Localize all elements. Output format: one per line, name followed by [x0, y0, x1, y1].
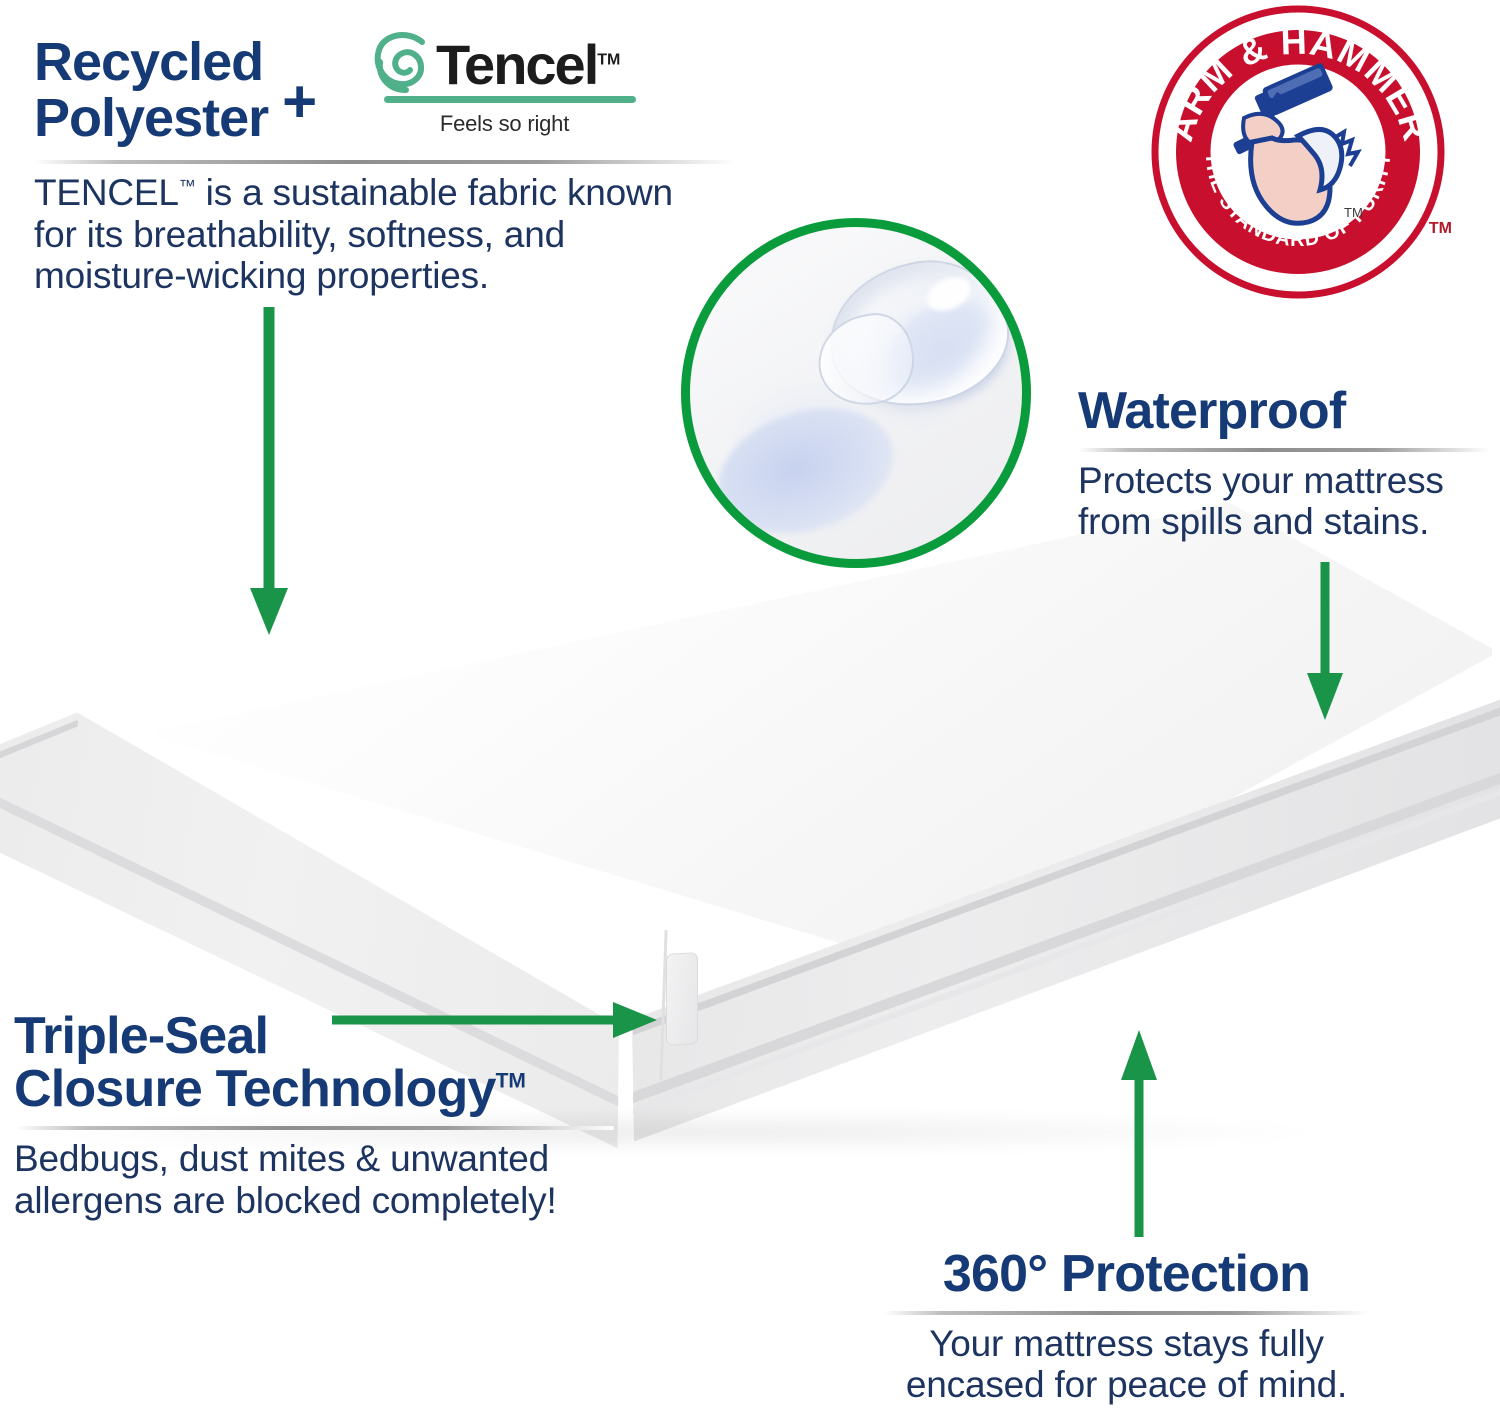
ah-tm-inner: TM — [1344, 205, 1363, 220]
protection-360-feature: 360° Protection Your mattress stays full… — [884, 1248, 1369, 1406]
divider — [34, 160, 734, 164]
divider — [1078, 448, 1490, 452]
tencel-tm: TM — [597, 51, 620, 68]
tencel-wordmark: TencelTM — [436, 37, 620, 93]
tencel-logo: TencelTM Feels so right — [372, 28, 637, 137]
triple-seal-feature: Triple-SealClosure TechnologyTM Bedbugs,… — [14, 1010, 614, 1221]
triple-seal-title: Triple-SealClosure TechnologyTM — [14, 1010, 614, 1116]
arrow-up-icon — [1110, 1025, 1180, 1240]
tencel-tagline: Feels so right — [372, 111, 637, 137]
divider — [884, 1311, 1369, 1315]
arm-and-hammer-logo: ARM & HAMMER THE STANDARD OF PURITY TM T… — [1148, 2, 1448, 302]
tencel-spiral-icon — [372, 28, 434, 102]
tencel-description: TENCEL™ is a sustainable fabric known fo… — [34, 172, 724, 296]
triple-seal-tm: TM — [496, 1070, 526, 1093]
arrow-down-icon — [1296, 560, 1366, 725]
zipper-icon — [666, 952, 698, 1046]
arrow-down-icon — [240, 305, 310, 640]
protection-360-description: Your mattress stays fully encased for pe… — [884, 1323, 1369, 1406]
arm-and-hammer-seal-icon: ARM & HAMMER THE STANDARD OF PURITY TM — [1148, 2, 1448, 302]
recycled-polyester-feature: Recycled Polyester + TencelTM Feels s — [34, 34, 734, 297]
waterproof-feature: Waterproof Protects your mattress from s… — [1078, 385, 1490, 543]
waterproof-title: Waterproof — [1078, 385, 1490, 438]
page-title: Recycled Polyester — [34, 34, 268, 146]
ah-tm-outer: TM — [1429, 220, 1452, 238]
triple-seal-description: Bedbugs, dust mites & unwanted allergens… — [14, 1138, 614, 1221]
waterproof-description: Protects your mattress from spills and s… — [1078, 460, 1490, 543]
protection-360-title: 360° Protection — [884, 1248, 1369, 1301]
plus-sign: + — [282, 72, 317, 132]
divider — [14, 1126, 614, 1130]
